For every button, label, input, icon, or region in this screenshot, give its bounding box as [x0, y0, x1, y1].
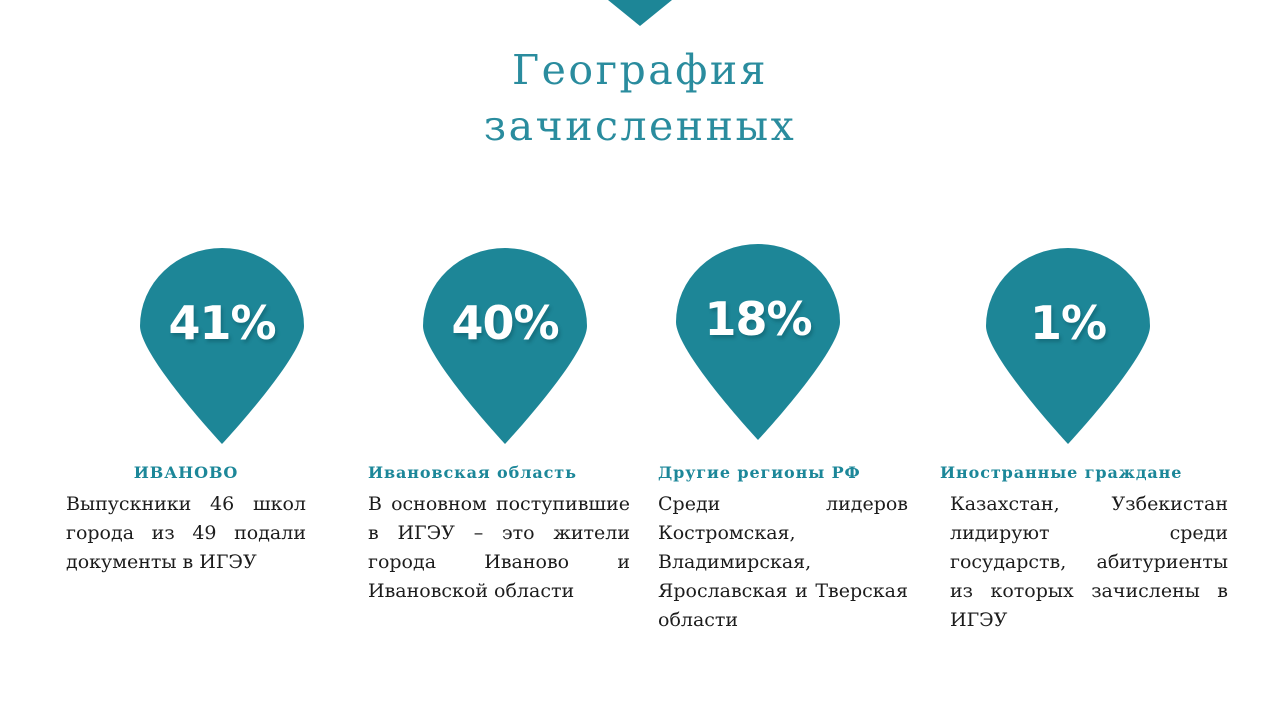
segment-heading: Иностранные граждане [940, 462, 1228, 484]
segment-heading: Другие регионы РФ [658, 462, 908, 484]
segment-description: Среди лидеров Костромская, Владимирская,… [658, 490, 908, 635]
map-pin-icon [140, 248, 304, 444]
segment-heading: ИВАНОВО [66, 462, 306, 484]
segment-description: В основном поступившие в ИГЭУ – это жите… [368, 490, 630, 606]
segment-description: Казахстан, Узбекистан лидируют среди гос… [940, 490, 1228, 635]
segment-column-foreign-citizens: Иностранные граждане Казахстан, Узбекист… [940, 462, 1228, 635]
pins-row: 41% 40% 18% 1% [0, 0, 1280, 460]
segment-heading: Ивановская область [368, 462, 630, 484]
map-pin-icon [423, 248, 587, 444]
map-pin-icon [676, 244, 840, 440]
segment-description: Выпускники 46 школ города из 49 подали д… [66, 490, 306, 577]
segment-column-other-regions: Другие регионы РФ Среди лидеров Костромс… [658, 462, 908, 635]
map-pin-icon [986, 248, 1150, 444]
segment-column-ivanovo: ИВАНОВО Выпускники 46 школ города из 49 … [66, 462, 306, 577]
map-pin-other-regions[interactable]: 18% [676, 244, 840, 440]
map-pin-ivanovo-oblast[interactable]: 40% [423, 248, 587, 444]
map-pin-foreign-citizens[interactable]: 1% [986, 248, 1150, 444]
segment-column-ivanovo-oblast: Ивановская область В основном поступивши… [368, 462, 630, 606]
map-pin-ivanovo[interactable]: 41% [140, 248, 304, 444]
slide-geography-of-enrolled: { "slide": { "title": "География\nзачисл… [0, 0, 1280, 720]
